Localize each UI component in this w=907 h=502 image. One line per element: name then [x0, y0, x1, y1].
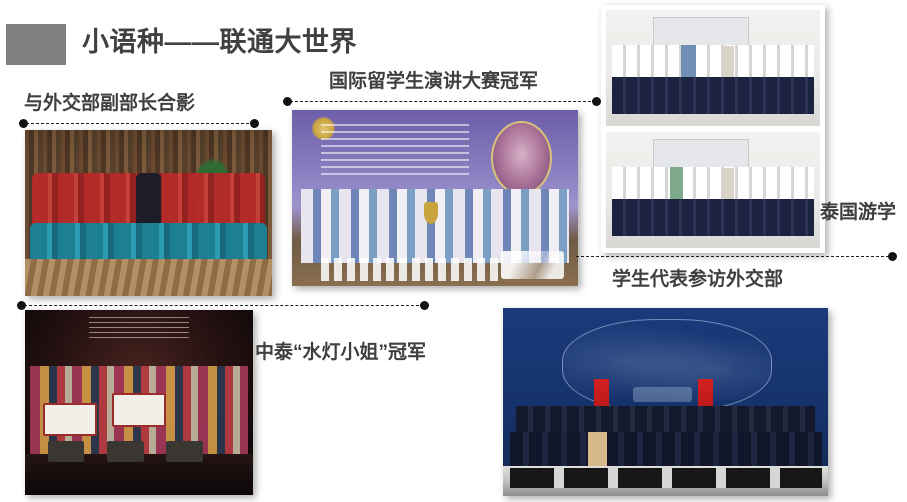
connector-dot-vice-minister-right [250, 119, 259, 128]
slide-canvas: 小语种——联通大世界 [0, 0, 907, 502]
page-title: 小语种——联通大世界 [82, 22, 357, 62]
caption-vice-minister-photo: 与外交部副部长合影 [24, 92, 195, 116]
photo-thailand-tour-image-top [606, 10, 820, 126]
photo-thailand-tour-image-bottom [606, 132, 820, 248]
photo-vice-minister[interactable] [25, 130, 272, 296]
connector-line-mfa-visit [576, 256, 894, 257]
connector-line-loy-krathong [24, 305, 424, 306]
connector-line-vice-minister [26, 123, 254, 124]
title-accent-swatch [6, 24, 66, 65]
photo-loy-krathong[interactable] [25, 310, 253, 495]
connector-dot-speech-contest-right [592, 97, 601, 106]
connector-line-speech-contest [290, 101, 596, 102]
caption-mfa-student-visit: 学生代表参访外交部 [612, 268, 783, 292]
caption-loy-krathong-champion: 中泰“水灯小姐”冠军 [255, 341, 426, 365]
photo-speech-contest[interactable] [292, 110, 578, 286]
connector-dot-loy-krathong-left [17, 301, 26, 310]
connector-dot-loy-krathong-right [420, 301, 429, 310]
photo-speech-contest-image [292, 110, 578, 286]
caption-speech-contest-champion: 国际留学生演讲大赛冠军 [329, 70, 538, 94]
photo-thailand-tour[interactable] [601, 5, 825, 253]
photo-mfa-visit[interactable] [503, 308, 828, 496]
photo-mfa-visit-image [503, 308, 828, 496]
connector-dot-speech-contest-left [283, 97, 292, 106]
photo-loy-krathong-image [25, 310, 253, 495]
connector-dot-mfa-visit-right [888, 252, 897, 261]
photo-vice-minister-image [25, 130, 272, 296]
connector-dot-vice-minister-left [19, 119, 28, 128]
caption-thailand-study-tour: 泰国游学 [820, 201, 896, 225]
